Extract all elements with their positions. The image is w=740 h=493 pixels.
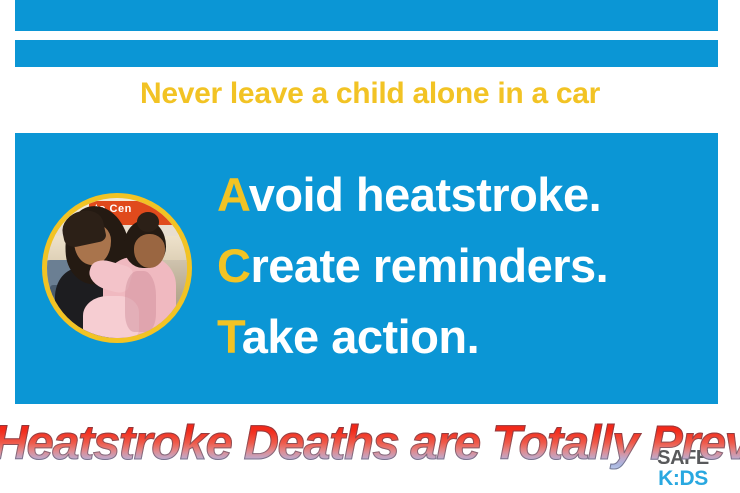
bottom-banner-text: Heatstroke Deaths are Totally Preventabl… [0, 414, 740, 474]
act-line-take: Take action. [217, 301, 637, 372]
act-capital-a: A [217, 168, 249, 221]
upper-blue-bar [15, 0, 718, 31]
photo-child-shading [125, 271, 156, 333]
act-capital-t: T [217, 310, 242, 363]
act-line-create: Create reminders. [217, 230, 637, 301]
photo-child-face [134, 234, 165, 268]
act-capital-c: C [217, 239, 250, 292]
act-line-avoid-text: void heatstroke. [249, 168, 601, 221]
lower-blue-bar [15, 40, 718, 67]
photo-child-hair-bun [137, 212, 159, 232]
circular-photo: to Cen [42, 193, 192, 343]
heatstroke-awareness-poster: Never leave a child alone in a car to Ce… [0, 0, 740, 493]
act-line-avoid: Avoid heatstroke. [217, 159, 637, 230]
headline-text: Never leave a child alone in a car [0, 76, 740, 112]
act-line-create-text: reate reminders. [250, 239, 608, 292]
main-blue-panel: to Cen Avoid heatstroke. Create reminder… [15, 133, 718, 404]
act-message-block: Avoid heatstroke. Create reminders. Take… [217, 159, 637, 372]
act-line-take-text: ake action. [242, 310, 479, 363]
